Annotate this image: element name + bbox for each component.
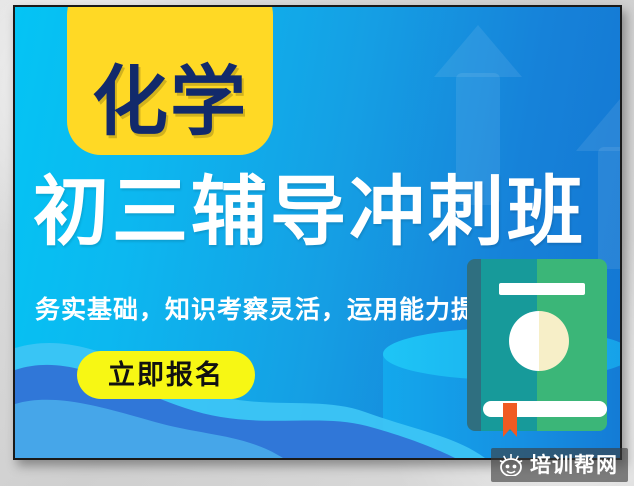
subject-badge-label: 化学 (92, 65, 248, 141)
book-title-bar (499, 283, 585, 295)
book-bookmark-icon (503, 403, 517, 437)
enroll-now-button[interactable]: 立即报名 (77, 351, 255, 399)
subtitle-text: 务实基础，知识考察灵活，运用能力提升 (35, 290, 503, 326)
watermark: 培训帮网 (491, 448, 628, 482)
headline-title: 初三辅导冲刺班 (33, 175, 593, 251)
book-illustration (467, 259, 607, 439)
arrow-head (576, 99, 622, 151)
watermark-label: 培训帮网 (530, 455, 618, 476)
subject-badge: 化学 (67, 5, 273, 155)
promo-banner[interactable]: 化学 初三辅导冲刺班 务实基础，知识考察灵活，运用能力提升 立即报名 (13, 5, 622, 460)
enroll-now-button-label: 立即报名 (108, 362, 224, 389)
book-pages (483, 401, 607, 417)
eye-sun-icon (499, 454, 523, 476)
page-canvas: 化学 初三辅导冲刺班 务实基础，知识考察灵活，运用能力提升 立即报名 (0, 0, 634, 486)
arrow-head (434, 25, 522, 77)
arrow-stem (598, 147, 622, 269)
